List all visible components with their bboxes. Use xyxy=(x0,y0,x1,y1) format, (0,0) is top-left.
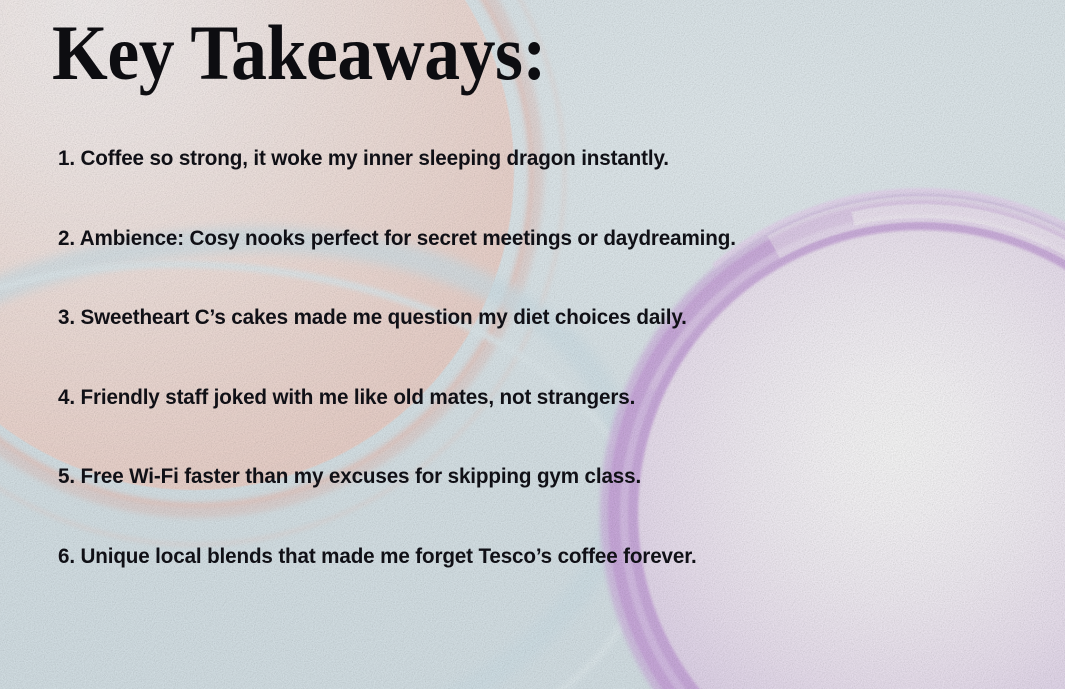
poster-content: Key Takeaways: 1. Coffee so strong, it w… xyxy=(0,0,1065,689)
list-item: 6. Unique local blends that made me forg… xyxy=(58,546,980,568)
list-item: 2. Ambience: Cosy nooks perfect for secr… xyxy=(58,228,980,250)
list-item: 5. Free Wi-Fi faster than my excuses for… xyxy=(58,466,980,488)
takeaways-list: 1. Coffee so strong, it woke my inner sl… xyxy=(58,148,1018,567)
list-item: 1. Coffee so strong, it woke my inner sl… xyxy=(58,148,980,170)
page-title: Key Takeaways: xyxy=(52,14,546,92)
list-item: 3. Sweetheart C’s cakes made me question… xyxy=(58,307,980,329)
list-item: 4. Friendly staff joked with me like old… xyxy=(58,387,980,409)
key-takeaways-poster: Key Takeaways: 1. Coffee so strong, it w… xyxy=(0,0,1065,689)
